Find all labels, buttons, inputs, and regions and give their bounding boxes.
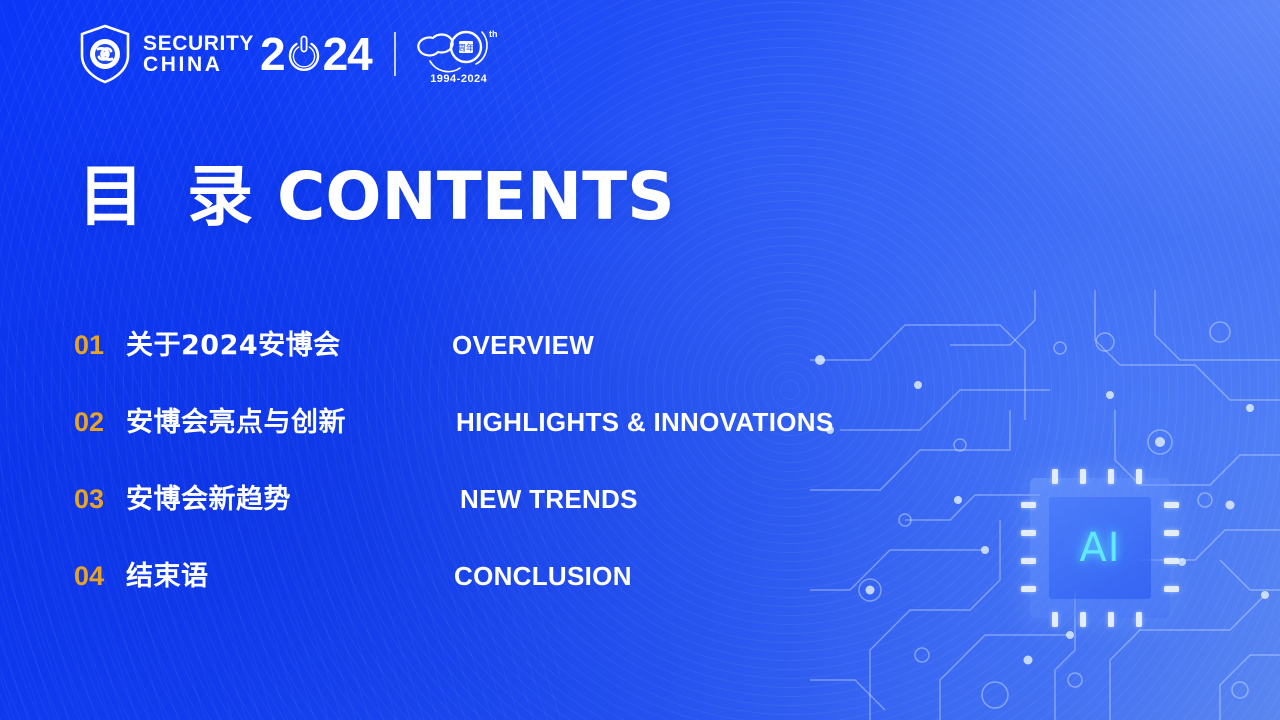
year-suffix: 24 — [323, 31, 372, 77]
page-title-en: CONTENTS — [277, 158, 675, 235]
toc-label-en: NEW TRENDS — [446, 484, 638, 514]
svg-text:th: th — [489, 29, 498, 39]
logo-divider — [394, 32, 396, 76]
brand-line-security: SECURITY — [143, 33, 254, 54]
chip-pin — [1164, 558, 1179, 564]
slide-canvas: AI SECURITY CHINA 2 — [0, 0, 1280, 720]
toc-item-02[interactable]: 02 安博会亮点与创新 HIGHLIGHTS & INNOVATIONS — [74, 407, 1074, 484]
ai-chip-label: AI — [1079, 525, 1120, 571]
toc-number: 02 — [74, 409, 126, 436]
security-china-logo: SECURITY CHINA 2 24 周年 — [78, 24, 502, 84]
power-button-icon — [286, 34, 322, 74]
page-title-cn: 目 录 — [78, 158, 263, 235]
svg-text:周年: 周年 — [458, 43, 474, 53]
brand-year: 2 24 — [260, 31, 372, 77]
chip-pin — [1164, 530, 1179, 536]
chip-pin — [1108, 612, 1114, 627]
toc-label-en: HIGHLIGHTS & INNOVATIONS — [446, 407, 833, 437]
chip-pin — [1080, 612, 1086, 627]
toc-label-cn: 安博会新趋势 — [126, 485, 446, 515]
chip-pin — [1136, 612, 1142, 627]
brand-line-china: CHINA — [143, 54, 254, 75]
toc-number: 03 — [74, 486, 126, 513]
chip-pin — [1136, 469, 1142, 484]
toc-item-04[interactable]: 04 结束语 CONCLUSION — [74, 561, 1074, 638]
toc-number: 04 — [74, 563, 126, 590]
chip-pin — [1164, 586, 1179, 592]
chip-pin — [1108, 469, 1114, 484]
year-prefix: 2 — [260, 31, 285, 77]
toc-label-en: CONCLUSION — [446, 561, 632, 591]
chip-pin — [1164, 502, 1179, 508]
page-title: 目 录CONTENTS — [78, 160, 675, 234]
shield-logo-icon — [78, 24, 132, 84]
toc-item-03[interactable]: 03 安博会新趋势 NEW TRENDS — [74, 484, 1074, 561]
contents-list: 01 关于2024安博会 OVERVIEW 02 安博会亮点与创新 HIGHLI… — [74, 330, 1074, 638]
anniversary-badge: 周年 th 1994-2024 — [416, 23, 502, 85]
toc-label-cn: 安博会亮点与创新 — [126, 408, 446, 438]
toc-label-en: OVERVIEW — [446, 330, 594, 360]
toc-label-cn: 关于2024安博会 — [126, 331, 446, 361]
chip-pin — [1080, 469, 1086, 484]
brand-wordmark: SECURITY CHINA — [143, 33, 254, 75]
toc-item-01[interactable]: 01 关于2024安博会 OVERVIEW — [74, 330, 1074, 407]
anniversary-years: 1994-2024 — [416, 73, 502, 85]
toc-label-cn: 结束语 — [126, 562, 446, 592]
toc-number: 01 — [74, 332, 126, 359]
